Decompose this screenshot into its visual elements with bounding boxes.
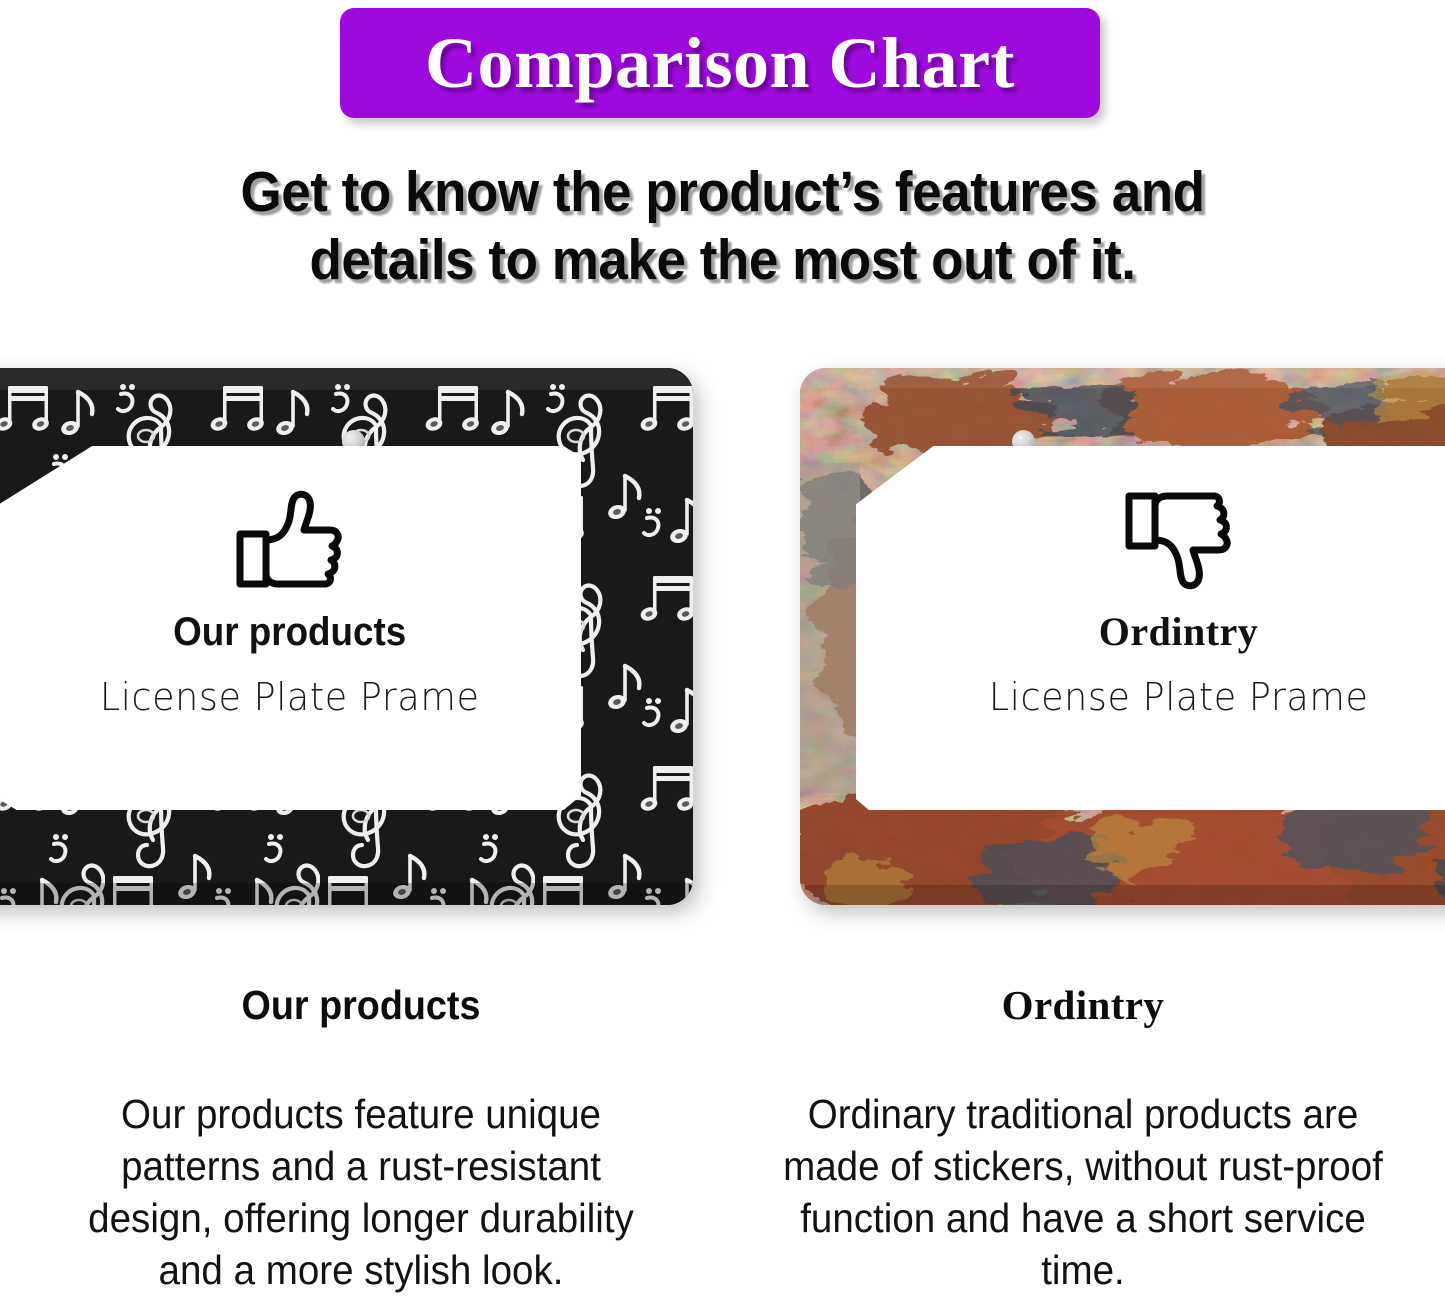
column-heading: Our products — [62, 985, 660, 1026]
column-heading: Ordintry — [758, 985, 1408, 1026]
column-body-text: Ordinary traditional products are made o… — [778, 1088, 1389, 1296]
our-product-frame: Our products License Plate Prame — [0, 368, 693, 905]
product-frames-row: Our products License Plate Prame — [0, 355, 1445, 925]
page-title: Comparison Chart — [425, 27, 1015, 99]
comparison-chart-page: Comparison Chart Get to know the product… — [0, 0, 1445, 1314]
our-product-description-column: Our products Our products feature unique… — [0, 985, 722, 1296]
plate-brand-label: Ordintry — [1099, 612, 1259, 652]
thumbs-down-icon — [1123, 490, 1235, 590]
comparison-descriptions: Our products Our products feature unique… — [0, 985, 1445, 1296]
plate-content: Ordintry License Plate Prame — [856, 446, 1445, 810]
plate-brand-label: Our products — [173, 612, 406, 652]
title-badge: Comparison Chart — [340, 8, 1100, 118]
subtitle-line-2: details to make the most out of it. — [51, 226, 1395, 294]
plate-content: Our products License Plate Prame — [0, 446, 581, 810]
column-body-text: Our products feature unique patterns and… — [56, 1088, 667, 1296]
plate-window: Ordintry License Plate Prame — [856, 446, 1445, 810]
subtitle: Get to know the product’s features and d… — [51, 158, 1395, 294]
thumbs-up-icon — [234, 490, 346, 590]
subtitle-line-1: Get to know the product’s features and — [51, 158, 1395, 226]
ordinary-product-description-column: Ordintry Ordinary traditional products a… — [722, 985, 1444, 1296]
plate-window: Our products License Plate Prame — [0, 446, 581, 810]
plate-product-label: License Plate Prame — [100, 678, 480, 716]
plate-product-label: License Plate Prame — [989, 678, 1369, 716]
ordinary-product-frame: Ordintry License Plate Prame — [800, 368, 1445, 905]
